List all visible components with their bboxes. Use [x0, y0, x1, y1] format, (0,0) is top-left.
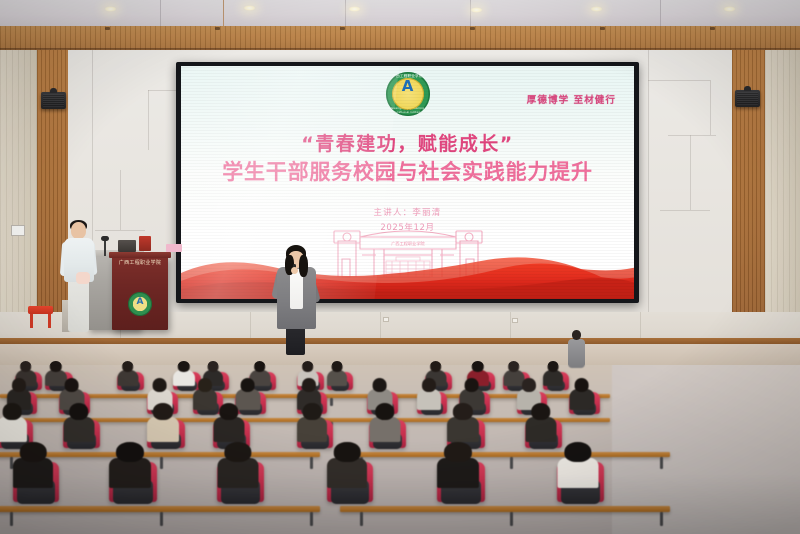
- host-at-podium: [60, 222, 100, 334]
- lecture-hall-photo: 广西工程职业学院 Guangxi Engineering Vocational …: [0, 0, 800, 534]
- desk-leg: [330, 398, 333, 406]
- desk-leg: [160, 457, 163, 469]
- audience-head: [548, 361, 559, 372]
- presentation-slide: 广西工程职业学院 Guangxi Engineering Vocational …: [181, 66, 634, 299]
- audience-head: [224, 442, 251, 462]
- audience-member: [176, 361, 192, 385]
- audience-head: [375, 403, 395, 420]
- lectern-seal: A: [128, 292, 152, 316]
- audience-member: [112, 442, 148, 486]
- presenter-with-microphone: [274, 245, 318, 355]
- audience-member: [420, 378, 438, 409]
- audience-torso: [109, 458, 151, 488]
- audience-head: [240, 378, 255, 392]
- audience-head: [453, 403, 473, 420]
- right-wall-panel: [765, 50, 800, 312]
- university-seal-logo: 广西工程职业学院 Guangxi Engineering Vocational …: [386, 72, 430, 116]
- mic-head: [101, 236, 109, 241]
- audience-head: [303, 403, 322, 420]
- audience-head: [219, 403, 239, 420]
- audience-torso: [543, 370, 563, 387]
- audience-torso: [147, 417, 179, 443]
- downlight: [723, 6, 736, 12]
- audience-head: [254, 361, 266, 372]
- audience-member: [16, 442, 50, 486]
- audience-torso: [297, 417, 327, 443]
- audience-member: [560, 442, 595, 486]
- audience-head: [564, 442, 591, 462]
- audience-member: [150, 403, 176, 440]
- audience-member: [506, 361, 521, 385]
- wall-speaker-left: [41, 92, 66, 109]
- audience-torso: [13, 458, 53, 488]
- audience-torso: [417, 389, 441, 410]
- audience-head: [122, 361, 134, 372]
- audience-head: [444, 442, 472, 462]
- red-box: [139, 236, 151, 251]
- audience-head: [372, 378, 387, 392]
- audience-desk: [340, 506, 670, 512]
- desk-leg: [660, 512, 663, 526]
- audience-head: [153, 403, 173, 420]
- audience-member: [196, 378, 214, 409]
- wall-speaker-right: [735, 90, 760, 107]
- audience-head: [50, 361, 62, 372]
- audience-member: [120, 361, 135, 385]
- laptop: [118, 240, 136, 252]
- wood-fascia-band: [0, 26, 800, 50]
- audience-member: [440, 442, 476, 486]
- audience-head: [430, 361, 442, 372]
- audience-head: [334, 442, 361, 462]
- red-ribbon-wave: [181, 239, 634, 299]
- audience-torso: [447, 417, 479, 443]
- audience-torso: [63, 417, 94, 443]
- lectern-name-plate: 广西工程职业学院: [112, 259, 168, 266]
- downlight: [470, 7, 483, 13]
- ceiling: [0, 0, 800, 26]
- desk-leg: [10, 512, 13, 526]
- audience-member: [528, 403, 553, 440]
- audience-torso: [173, 370, 195, 387]
- downlight: [590, 6, 603, 12]
- wall-socket: [383, 317, 389, 322]
- audience-member: [0, 403, 24, 440]
- standing-attendee: [567, 330, 585, 368]
- audience-torso: [327, 458, 367, 488]
- ceiling-seam: [660, 0, 661, 26]
- audience-torso: [369, 417, 400, 443]
- audience-head: [69, 403, 89, 420]
- audience-head: [422, 378, 436, 392]
- audience-member: [66, 403, 91, 440]
- audience-head: [531, 403, 551, 420]
- lectern-seal-mark: A: [137, 297, 144, 307]
- audience-torso: [217, 458, 258, 488]
- desk-leg: [510, 457, 513, 469]
- audience-torso: [213, 417, 244, 443]
- audience-torso: [117, 370, 138, 387]
- audience-head: [3, 403, 22, 420]
- audience-head: [208, 361, 219, 372]
- audience-member: [450, 403, 476, 440]
- audience-head: [574, 378, 589, 392]
- audience-head: [522, 378, 536, 392]
- seal-center-mark: A: [402, 79, 414, 94]
- audience-torso: [193, 389, 217, 410]
- wall-sign: [11, 225, 25, 236]
- ceiling-seam: [160, 0, 161, 26]
- audience-torso: [525, 417, 556, 443]
- audience-head: [332, 361, 343, 372]
- downlight: [104, 6, 117, 12]
- audience-member: [216, 403, 241, 440]
- audience-head: [20, 442, 47, 462]
- left-wall-panel: [0, 50, 37, 312]
- audience-head: [20, 361, 32, 372]
- audience-torso: [327, 370, 347, 387]
- audience-member: [372, 403, 397, 440]
- mic-stand: [104, 240, 106, 256]
- audience-member: [330, 361, 344, 385]
- lectern-top: [109, 252, 171, 258]
- audience-head: [64, 378, 79, 392]
- audience-head: [302, 378, 316, 392]
- desk-leg: [160, 512, 163, 526]
- audience-head: [12, 378, 26, 392]
- audience-torso: [557, 458, 598, 488]
- audience-head: [508, 361, 520, 372]
- audience-head: [302, 361, 314, 372]
- audience-member: [546, 361, 560, 385]
- red-stool: [28, 306, 53, 328]
- audience-head: [198, 378, 212, 392]
- audience-torso: [569, 389, 594, 410]
- audience-torso: [0, 417, 27, 443]
- audience-member: [300, 403, 324, 440]
- audience-member: [572, 378, 591, 409]
- desk-leg: [310, 457, 313, 469]
- slide-motto: 厚德博学 至材健行: [527, 92, 616, 106]
- slide-title-line2: 学生干部服务校园与社会实践能力提升: [181, 161, 634, 183]
- audience-head: [152, 378, 167, 392]
- led-screen-bezel: 广西工程职业学院 Guangxi Engineering Vocational …: [176, 62, 639, 303]
- audience-member: [330, 442, 364, 486]
- audience-head: [464, 378, 479, 392]
- paper-sheet: [166, 244, 182, 252]
- audience-head: [472, 361, 484, 372]
- desk-leg: [660, 457, 663, 469]
- desk-leg: [360, 512, 363, 526]
- audience-desk: [340, 452, 670, 457]
- audience-torso: [437, 458, 479, 488]
- audience-head: [116, 442, 144, 462]
- slide-title-line1: “青春建功，赋能成长”: [181, 135, 634, 154]
- seal-abbr: GXGC: [386, 109, 430, 113]
- lectern: 广西工程职业学院 A: [112, 256, 168, 330]
- audience-head: [178, 361, 190, 372]
- downlight: [348, 6, 361, 12]
- desk-leg: [510, 512, 513, 526]
- audience-member: [220, 442, 255, 486]
- ceiling-seam: [470, 0, 471, 26]
- ceiling-seam: [345, 0, 346, 26]
- wall-socket: [512, 318, 518, 323]
- downlight: [243, 5, 256, 11]
- desk-leg: [310, 512, 313, 526]
